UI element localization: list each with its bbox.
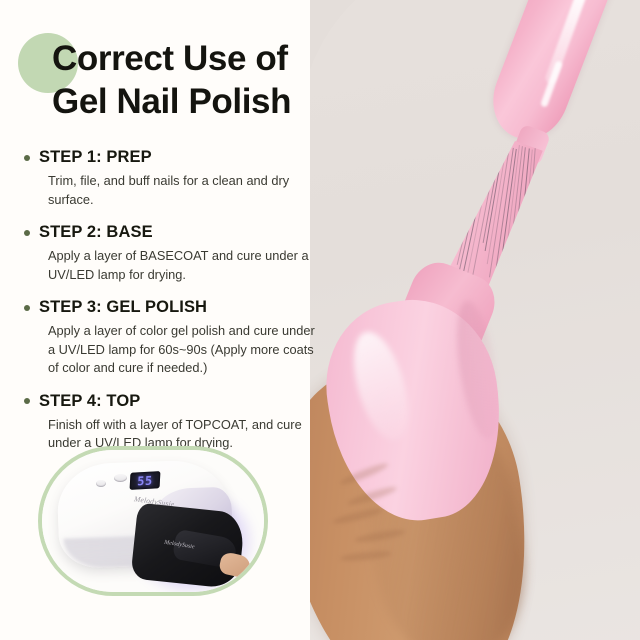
bullet-icon [24,230,30,236]
brush-bristle-strand [458,144,488,273]
uv-lamp-photo: 55 MelodySusie MelodySusie [42,450,268,596]
page-title: Correct Use of Gel Nail Polish [52,38,352,123]
step-body: Trim, file, and buff nails for a clean a… [48,172,316,209]
lamp-timer-value: 55 [137,473,153,488]
brush-bristle-strand [454,146,479,239]
bullet-icon [24,155,30,161]
list-item: STEP 3: GEL POLISH Apply a layer of colo… [24,298,316,378]
brush-bristle-strand [426,144,460,247]
step-title: STEP 4: TOP [39,392,140,411]
step-body: Apply a layer of BASECOAT and cure under… [48,247,316,284]
step-title: STEP 1: PREP [39,148,152,167]
step-header: STEP 4: TOP [24,392,316,411]
bullet-icon [24,305,30,311]
list-item: STEP 4: TOP Finish off with a layer of T… [24,392,316,453]
brush-bristle-strand [457,148,485,265]
brush-bristle-strand [455,147,482,252]
step-title: STEP 3: GEL POLISH [39,298,207,317]
step-header: STEP 2: BASE [24,223,316,242]
step-header: STEP 3: GEL POLISH [24,298,316,317]
step-title: STEP 2: BASE [39,223,153,242]
step-body: Apply a layer of color gel polish and cu… [48,322,316,378]
page-title-line-2: Gel Nail Polish [52,81,352,124]
page-title-line-1: Correct Use of [52,38,352,81]
bullet-icon [24,398,30,404]
list-item: STEP 1: PREP Trim, file, and buff nails … [24,148,316,209]
polish-brush-illustration [310,0,640,340]
steps-list: STEP 1: PREP Trim, file, and buff nails … [24,148,316,467]
list-item: STEP 2: BASE Apply a layer of BASECOAT a… [24,223,316,284]
brush-bristle-strand [426,145,462,260]
brush-bristle-strand [425,143,456,235]
lamp-timer-display: 55 [130,471,161,490]
product-photo-panel [310,0,640,640]
step-header: STEP 1: PREP [24,148,316,167]
uv-lamp-card: 55 MelodySusie MelodySusie [38,446,268,596]
